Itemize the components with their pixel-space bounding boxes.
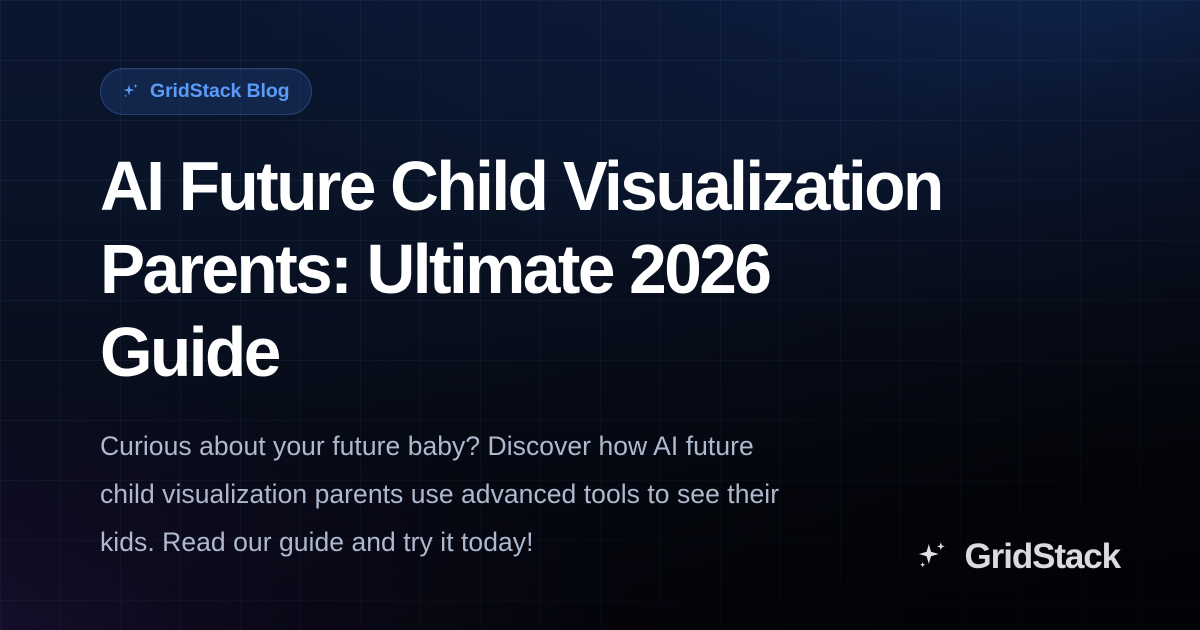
brand-lockup: GridStack [914,537,1120,577]
brand-label: GridStack [965,537,1120,577]
page-title-line: Guide [100,313,279,391]
blog-badge[interactable]: GridStack Blog [100,68,312,115]
page-title-line: AI Future Child Visualization [100,147,942,225]
page-title-line: Parents: Ultimate 2026 [100,230,769,308]
page-title: AI Future Child Visualization Parents: U… [100,145,1051,394]
blog-badge-label: GridStack Blog [150,80,289,103]
page-subtitle: Curious about your future baby? Discover… [100,422,995,566]
page-subtitle-line: child visualization parents use advanced… [100,479,779,509]
sparkle-icon [121,82,141,102]
page-subtitle-line: Curious about your future baby? Discover… [100,431,754,461]
sparkle-icon [914,539,951,576]
page-subtitle-line: kids. Read our guide and try it today! [100,527,534,557]
content-column: GridStack Blog AI Future Child Visualiza… [100,0,1100,630]
og-share-card: GridStack Blog AI Future Child Visualiza… [0,0,1200,630]
